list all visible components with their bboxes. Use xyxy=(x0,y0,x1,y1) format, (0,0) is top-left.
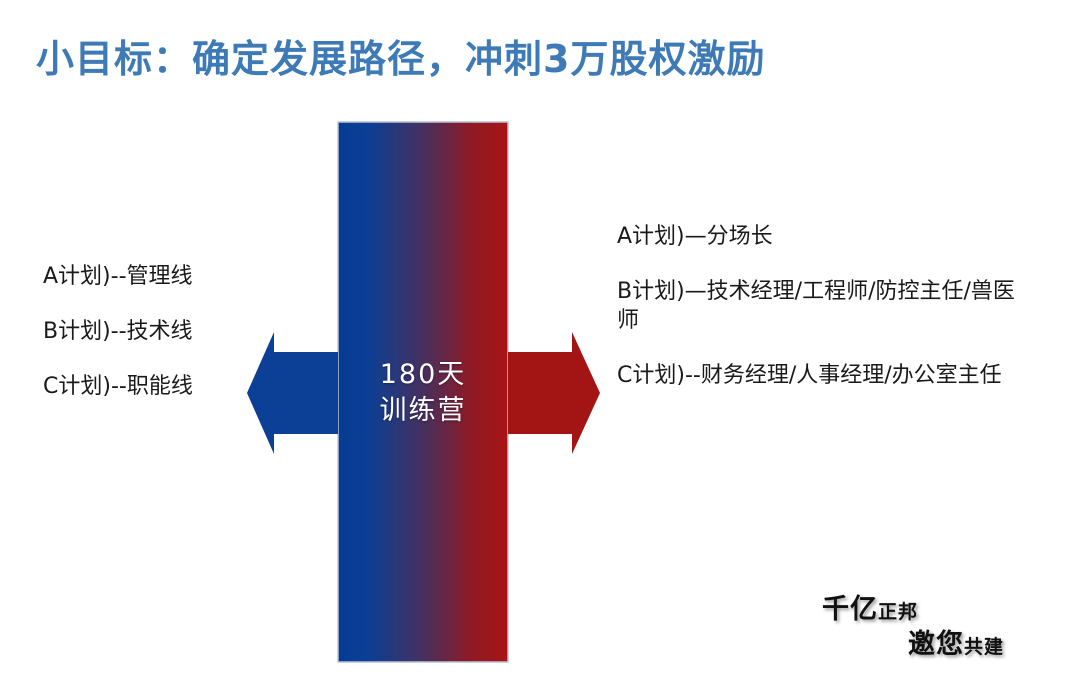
signature-block: 千亿正邦 邀您共建 xyxy=(810,594,1010,660)
right-text-column: A计划)—分场长 B计划)—技术经理/工程师/防控主任/兽医师 C计划)--财务… xyxy=(617,222,1017,390)
slide-canvas: 小目标：确定发展路径，冲刺3万股权激励 180天 训练营 xyxy=(0,0,1080,694)
signature-line-1-big: 千亿 xyxy=(822,594,878,625)
signature-line-2-big: 邀您 xyxy=(908,629,964,660)
left-item-c: C计划)--职能线 xyxy=(43,372,248,401)
page-title: 小目标：确定发展路径，冲刺3万股权激励 xyxy=(36,36,1036,84)
cross-arrow-graphic xyxy=(240,118,610,668)
cross-arrow-svg xyxy=(240,118,610,668)
left-item-a: A计划)--管理线 xyxy=(43,262,248,291)
right-item-a: A计划)—分场长 xyxy=(617,222,1017,251)
signature-line-2-small: 共建 xyxy=(964,636,1004,658)
signature-line-1-small: 正邦 xyxy=(878,601,918,623)
vertical-gradient-bar xyxy=(338,122,508,662)
left-arrow xyxy=(247,332,338,454)
right-arrow xyxy=(508,332,600,454)
signature-line-2: 邀您共建 xyxy=(810,629,1010,660)
signature-line-1: 千亿正邦 xyxy=(810,594,1010,625)
right-item-b: B计划)—技术经理/工程师/防控主任/兽医师 xyxy=(617,277,1017,335)
right-item-c: C计划)--财务经理/人事经理/办公室主任 xyxy=(617,361,1017,390)
left-text-column: A计划)--管理线 B计划)--技术线 C计划)--职能线 xyxy=(43,262,248,401)
left-item-b: B计划)--技术线 xyxy=(43,317,248,346)
